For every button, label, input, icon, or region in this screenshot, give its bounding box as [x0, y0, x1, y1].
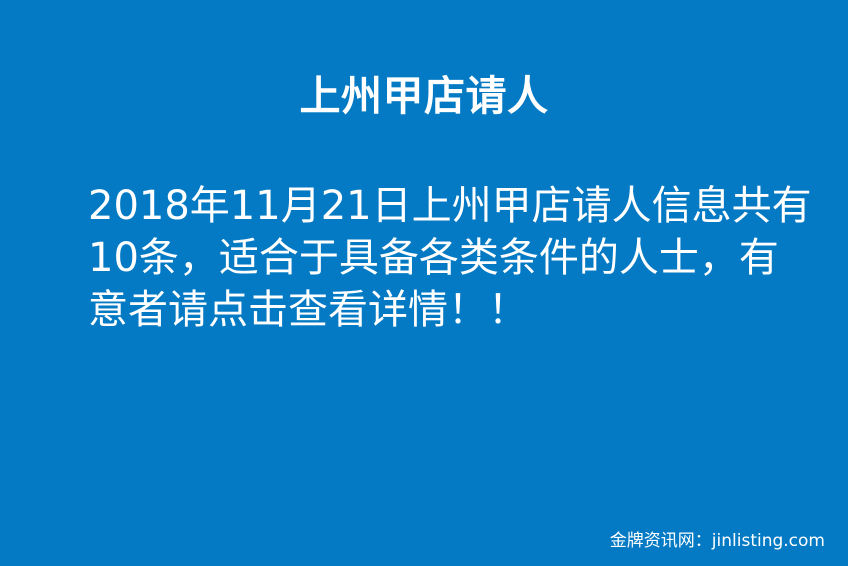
body-line-2: 10条，适合于具备各类条件的人士，有: [88, 232, 788, 284]
site-watermark: 金牌资讯网：jinlisting.com: [610, 530, 825, 552]
body-line-1: 2018年11月21日上州甲店请人信息共有: [88, 180, 788, 232]
poster-canvas: 上州甲店请人 2018年11月21日上州甲店请人信息共有 10条，适合于具备各类…: [0, 0, 848, 566]
body-line-3: 意者请点击查看详情！！: [88, 284, 788, 336]
page-title: 上州甲店请人: [0, 70, 848, 122]
poster-body-text: 2018年11月21日上州甲店请人信息共有 10条，适合于具备各类条件的人士，有…: [88, 180, 788, 336]
